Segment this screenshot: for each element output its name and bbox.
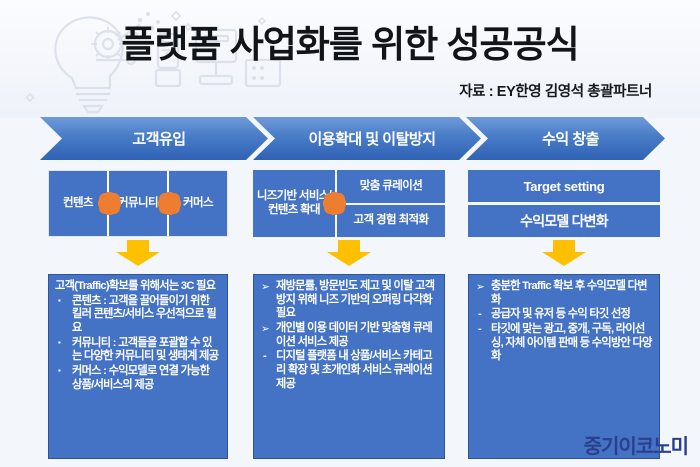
watermark-logo: 중기이코노미 xyxy=(584,430,688,459)
dash-bullet-icon: - xyxy=(478,307,481,322)
list-item: - 디지털 플랫폼 내 상품/서비스 카테고리 확장 및 초개인화 서비스 큐레… xyxy=(260,350,438,391)
dash-bullet-icon: - xyxy=(478,322,481,337)
dash-bullet-icon: - xyxy=(263,349,266,364)
panel-1-lead: 고객(Traffic)확보를 위해서는 3C 필요 xyxy=(55,280,221,294)
infographic-canvas: 플랫폼 사업화를 위한 성공공식 자료 : EY한영 김영석 총괄파트너 고객유… xyxy=(0,0,700,467)
plus-node-icon xyxy=(101,195,118,212)
detail-panel-2: ➢ 재방문률, 방문빈도 제고 및 이탈 고객 방지 위해 니즈 기반의 오퍼링… xyxy=(253,274,445,459)
list-item: ▪ 커뮤니티 : 고객들을 포괄할 수 있는 다양한 커뮤니티 및 생태계 제공 xyxy=(55,337,221,364)
panel-3-bullets: ➢ 충분한 Traffic 확보 후 수익모델 다변화 - 공급자 및 유저 등… xyxy=(475,280,653,364)
square-bullet-icon: ▪ xyxy=(58,366,60,377)
box-group-usage: 니즈기반 서비스/컨텐츠 확대 맞춤 큐레이션 고객 경험 최적화 xyxy=(253,170,445,237)
panel-2-bullets: ➢ 재방문률, 방문빈도 제고 및 이탈 고객 방지 위해 니즈 기반의 오퍼링… xyxy=(260,280,438,391)
box-group-3c: 컨텐츠 커뮤니티 커머스 xyxy=(48,170,228,237)
list-item-text: 재방문률, 방문빈도 제고 및 이탈 고객 방지 위해 니즈 기반의 오퍼링 다… xyxy=(276,280,434,319)
list-item-text: 커뮤니티 : 고객들을 포괄할 수 있는 다양한 커뮤니티 및 생태계 제공 xyxy=(72,337,218,363)
down-arrow-icon xyxy=(116,240,160,266)
box-group-revenue: Target setting 수익모델 다변화 xyxy=(468,170,660,237)
page-title: 플랫폼 사업화를 위한 성공공식 xyxy=(0,14,700,68)
stage-label-2: 이용확대 및 이탈방지 xyxy=(298,128,435,149)
down-arrow-icon xyxy=(327,240,371,266)
square-bullet-icon: ▪ xyxy=(58,338,60,349)
list-item-text: 콘텐츠 : 고객을 끌어들이기 위한 킬러 콘텐츠/서비스 우선적으로 필요 xyxy=(72,295,216,334)
list-item-text: 개인별 이용 데이터 기반 맞춤형 큐레이션 서비스 제공 xyxy=(276,322,432,348)
box-revenue-model-diversification[interactable]: 수익모델 다변화 xyxy=(468,205,660,237)
column-revenue-generation: Target setting 수익모델 다변화 ➢ 충분한 Traffic 확보… xyxy=(468,170,660,237)
list-item: ▪ 콘텐츠 : 고객을 끌어들이기 위한 킬러 콘텐츠/서비스 우선적으로 필요 xyxy=(55,295,221,336)
arrow-bullet-icon: ➢ xyxy=(261,280,269,294)
stage-flow: 고객유입 이용확대 및 이탈방지 수익 창출 xyxy=(40,117,665,160)
stage-chevron-1[interactable]: 고객유입 xyxy=(40,117,268,160)
column-customer-inflow: 컨텐츠 커뮤니티 커머스 고객(Traffic)확보를 위해서는 3C 필요 ▪… xyxy=(48,170,228,237)
list-item: ➢ 개인별 이용 데이터 기반 맞춤형 큐레이션 서비스 제공 xyxy=(260,322,438,349)
column-usage-expansion: 니즈기반 서비스/컨텐츠 확대 맞춤 큐레이션 고객 경험 최적화 ➢ 재방문률… xyxy=(253,170,445,237)
stage-chevron-2[interactable]: 이용확대 및 이탈방지 xyxy=(253,117,481,160)
box-cx-optimization[interactable]: 고객 경험 최적화 xyxy=(337,205,445,238)
list-item-text: 충분한 Traffic 확보 후 수익모델 다변화 xyxy=(491,280,647,306)
box-custom-curation[interactable]: 맞춤 큐레이션 xyxy=(337,170,445,203)
panel-1-bullets: ▪ 콘텐츠 : 고객을 끌어들이기 위한 킬러 콘텐츠/서비스 우선적으로 필요… xyxy=(55,295,221,393)
list-item: - 공급자 및 유저 등 수익 타깃 선정 xyxy=(475,308,653,322)
list-item-text: 공급자 및 유저 등 수익 타깃 선정 xyxy=(491,308,630,320)
list-item: ➢ 충분한 Traffic 확보 후 수익모델 다변화 xyxy=(475,280,653,307)
arrow-bullet-icon: ➢ xyxy=(261,322,269,336)
box-target-setting[interactable]: Target setting xyxy=(468,170,660,202)
plus-node-icon xyxy=(161,195,178,212)
stage-chevron-3[interactable]: 수익 창출 xyxy=(466,117,665,160)
list-item-text: 타깃에 맞는 광고, 중개, 구독, 라이선싱, 자체 아이템 판매 등 수익방… xyxy=(491,323,652,362)
square-bullet-icon: ▪ xyxy=(58,296,60,307)
down-arrow-icon xyxy=(542,240,586,266)
stage-label-3: 수익 창출 xyxy=(532,128,599,149)
list-item-text: 커머스 : 수익모델로 연결 가능한 상품/서비스의 제공 xyxy=(72,365,209,391)
arrow-bullet-icon: ➢ xyxy=(476,280,484,294)
source-credit: 자료 : EY한영 김영석 총괄파트너 xyxy=(459,80,652,101)
detail-panel-1: 고객(Traffic)확보를 위해서는 3C 필요 ▪ 콘텐츠 : 고객을 끌어… xyxy=(48,274,228,459)
list-item: ➢ 재방문률, 방문빈도 제고 및 이탈 고객 방지 위해 니즈 기반의 오퍼링… xyxy=(260,280,438,321)
stage-label-1: 고객유입 xyxy=(122,128,185,149)
plus-node-icon xyxy=(326,195,343,212)
list-item: ▪ 커머스 : 수익모델로 연결 가능한 상품/서비스의 제공 xyxy=(55,365,221,392)
list-item-text: 디지털 플랫폼 내 상품/서비스 카테고리 확장 및 초개인화 서비스 큐레이션… xyxy=(276,350,432,389)
list-item: - 타깃에 맞는 광고, 중개, 구독, 라이선싱, 자체 아이템 판매 등 수… xyxy=(475,323,653,364)
